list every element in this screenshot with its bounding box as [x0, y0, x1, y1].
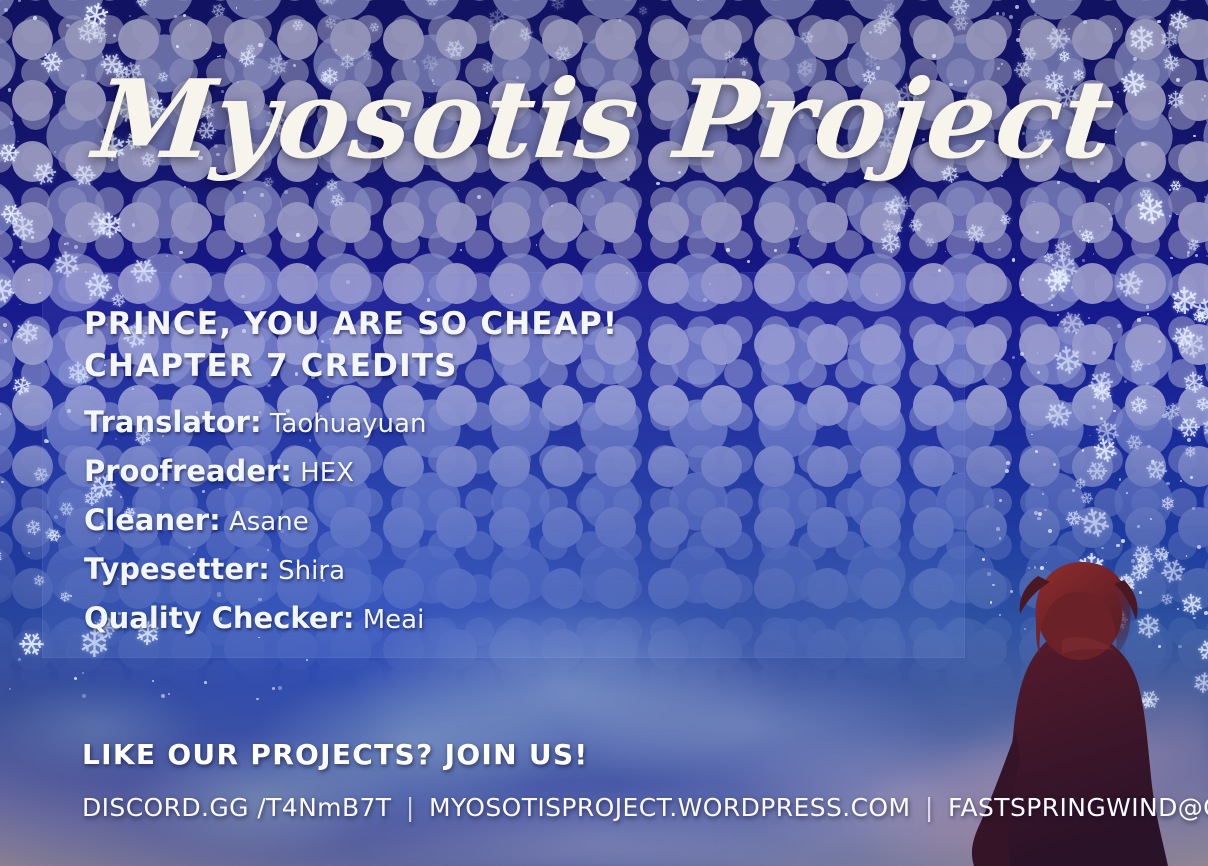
snow-dot [190, 24, 192, 26]
credit-role-name: Asane [221, 507, 309, 537]
snow-dot [1168, 417, 1171, 420]
snow-dot [1190, 476, 1193, 479]
snowflake-icon: ❄ [1076, 550, 1107, 587]
snow-dot [3, 323, 7, 327]
snow-dot [206, 48, 208, 50]
snow-dot [1046, 562, 1048, 564]
snow-dot [1012, 356, 1015, 359]
snow-dot [1012, 258, 1015, 261]
snow-dot [1115, 28, 1117, 30]
snow-dot [1037, 352, 1039, 354]
snowflake-icon: ❄ [1074, 477, 1087, 492]
snow-dot [1147, 445, 1151, 449]
snow-dot [1067, 648, 1069, 650]
snow-dot [1106, 373, 1110, 377]
snow-dot [990, 601, 993, 604]
snowflake-icon: ❄ [23, 516, 44, 540]
website-link[interactable]: MYOSOTISPROJECT.WORDPRESS.COM [429, 793, 910, 822]
snow-dot [1053, 463, 1056, 466]
snowflake-icon: ❄ [1081, 364, 1119, 406]
snow-dot [797, 245, 799, 247]
snowflake-icon: ❄ [1038, 394, 1079, 438]
snow-dot [1066, 601, 1070, 605]
snowflake-icon: ❄ [878, 229, 904, 259]
snow-dot [1006, 461, 1010, 465]
snow-dot [1187, 254, 1190, 257]
snow-dot [1162, 414, 1166, 418]
snow-dot [1028, 567, 1031, 570]
snowflake-icon: ❄ [1203, 399, 1208, 450]
snow-dot [1021, 294, 1024, 297]
snow-dot [1093, 253, 1095, 255]
discord-link[interactable]: DISCORD.GG /T4NmB7T [82, 793, 391, 822]
snow-dot [1034, 511, 1038, 515]
snow-dot [4, 339, 7, 342]
snow-dot [1061, 416, 1063, 418]
snow-dot [1048, 297, 1052, 301]
snowflake-icon: ❄ [0, 197, 28, 232]
snowflake-icon: ❄ [243, 41, 258, 57]
snow-dot [1139, 591, 1142, 594]
snowflake-icon: ❄ [904, 215, 926, 238]
snow-dot [74, 245, 78, 249]
snowflake-icon: ❄ [637, 5, 648, 18]
snow-dot [256, 698, 259, 701]
snow-dot [129, 15, 132, 18]
snowflake-icon: ❄ [489, 22, 498, 33]
snow-dot [1153, 396, 1155, 398]
snowflake-icon: ❄ [1050, 340, 1087, 382]
snow-dot [1108, 203, 1110, 205]
snow-dot [204, 681, 207, 684]
snow-dot [0, 413, 1, 415]
snowflake-icon: ❄ [327, 192, 347, 214]
snowflake-icon: ❄ [1061, 506, 1086, 533]
snowflake-icon: ❄ [949, 13, 972, 38]
snowflake-icon: ❄ [1134, 685, 1165, 718]
snow-dot [536, 244, 538, 246]
snowflake-icon: ❄ [288, 17, 306, 36]
snowflake-icon: ❄ [879, 217, 898, 238]
snow-dot [1100, 417, 1103, 420]
title-container: Myosotis Project [0, 64, 1208, 177]
snow-dot [945, 251, 947, 253]
snow-dot [306, 659, 308, 661]
snow-dot [100, 227, 102, 229]
snow-dot [697, 0, 700, 1]
snow-dot [1057, 607, 1061, 611]
snowflake-icon: ❄ [1114, 572, 1137, 599]
snowflake-icon: ❄ [1171, 410, 1207, 448]
snowflake-icon: ❄ [1109, 606, 1128, 627]
snowflake-icon: ❄ [1193, 308, 1208, 328]
snowflake-icon: ❄ [1134, 610, 1164, 645]
snow-dot [243, 191, 246, 194]
snow-dot [1164, 554, 1168, 558]
snow-dot [1079, 230, 1081, 232]
snowflake-icon: ❄ [1040, 19, 1079, 60]
snowflake-icon: ❄ [1181, 368, 1208, 400]
snow-dot [102, 232, 106, 236]
snow-dot [1071, 286, 1074, 289]
snow-dot [1187, 438, 1191, 442]
snowflake-icon: ❄ [1075, 502, 1117, 548]
credit-line: Cleaner: Asane [84, 497, 924, 546]
snowflake-icon: ❄ [9, 372, 35, 401]
credit-role-name: HEX [292, 458, 354, 488]
snow-dot [1200, 346, 1202, 348]
snowflake-icon: ❄ [1102, 606, 1134, 640]
snow-dot [19, 246, 23, 250]
snow-dot [1089, 435, 1091, 437]
snowflake-icon: ❄ [883, 188, 918, 226]
snowflake-icon: ❄ [132, 0, 150, 12]
snowflake-icon: ❄ [1078, 228, 1097, 250]
snow-dot [1051, 294, 1055, 298]
snow-dot [747, 260, 750, 263]
footer-links: DISCORD.GG /T4NmB7T | MYOSOTISPROJECT.WO… [82, 793, 1142, 822]
snow-dot [619, 19, 622, 22]
snowflake-icon: ❄ [1122, 430, 1147, 457]
snow-dot [1038, 512, 1042, 516]
snow-dot [1119, 478, 1121, 480]
credits-role-list: Translator: TaohuayuanProofreader: HEXCl… [84, 399, 924, 644]
snowflake-icon: ❄ [1149, 543, 1173, 569]
snow-dot [1157, 20, 1161, 24]
snowflake-icon: ❄ [1127, 392, 1151, 419]
credits-text-block: PRINCE, YOU ARE SO CHEAP! CHAPTER 7 CRED… [84, 303, 924, 644]
snow-dot [19, 304, 21, 306]
snow-dot [1169, 189, 1171, 191]
snowflake-icon: ❄ [1159, 591, 1175, 609]
snow-dot [82, 694, 86, 698]
snow-dot [1150, 518, 1152, 520]
snow-dot [1176, 214, 1178, 216]
credit-role-name: Taohuayuan [262, 409, 427, 439]
snowflake-icon: ❄ [1199, 413, 1208, 444]
snow-dot [1147, 313, 1149, 315]
snow-dot [1170, 257, 1173, 260]
snow-dot [982, 558, 985, 561]
snow-dot [33, 16, 37, 20]
snowflake-icon: ❄ [422, 0, 441, 11]
snow-dot [1166, 482, 1170, 486]
snowflake-icon: ❄ [74, 18, 103, 51]
snow-dot [460, 249, 462, 251]
snow-dot [726, 248, 730, 252]
snow-dot [66, 24, 70, 28]
snowflake-icon: ❄ [1192, 633, 1208, 670]
snow-dot [1177, 608, 1179, 610]
credit-role-label: Proofreader: [84, 454, 292, 488]
snow-dot [306, 265, 309, 268]
snow-dot [152, 680, 154, 682]
credit-role-label: Typesetter: [84, 552, 270, 586]
snowflake-icon: ❄ [1126, 23, 1157, 60]
snowflake-icon: ❄ [1051, 238, 1074, 264]
snow-dot [176, 45, 180, 49]
snow-dot [1018, 29, 1020, 31]
snow-dot [1124, 380, 1127, 383]
snow-dot [184, 186, 186, 188]
snow-dot [113, 34, 116, 37]
footer-call-to-action: LIKE OUR PROJECTS? JOIN US! [82, 738, 1142, 771]
credits-heading-title: PRINCE, YOU ARE SO CHEAP! [84, 303, 924, 345]
snowflake-icon: ❄ [0, 270, 22, 313]
snowflake-icon: ❄ [366, 20, 381, 37]
snowflake-icon: ❄ [874, 4, 901, 34]
snowflake-icon: ❄ [1112, 570, 1142, 601]
snow-dot [174, 15, 177, 18]
snow-dot [18, 658, 21, 661]
snow-dot [1044, 509, 1047, 512]
snow-dot [1193, 617, 1196, 620]
snow-dot [1137, 318, 1141, 322]
snowflake-icon: ❄ [1166, 319, 1201, 357]
snow-dot [477, 195, 481, 199]
snowflake-icon: ❄ [871, 18, 890, 39]
snowflake-icon: ❄ [316, 0, 331, 7]
snow-dot [1010, 590, 1013, 593]
snow-dot [1187, 251, 1190, 254]
snow-dot [987, 572, 991, 576]
snowflake-icon: ❄ [1139, 695, 1156, 713]
snow-dot [82, 672, 84, 674]
snow-dot [1126, 492, 1128, 494]
snow-dot [869, 31, 873, 35]
snowflake-icon: ❄ [1184, 445, 1197, 461]
snow-dot [999, 499, 1002, 502]
snow-dot [64, 243, 66, 245]
snowflake-icon: ❄ [1170, 298, 1189, 319]
snowflake-icon: ❄ [1135, 185, 1156, 207]
snow-dot [795, 227, 798, 230]
snow-dot [260, 193, 264, 197]
snowflake-icon: ❄ [1042, 251, 1057, 268]
snow-dot [1015, 5, 1019, 9]
snowflake-icon: ❄ [1054, 304, 1091, 344]
snowflake-icon: ❄ [884, 1, 897, 16]
snow-dot [1, 481, 4, 484]
footer-separator-2: | [919, 793, 940, 822]
snow-dot [1180, 480, 1182, 482]
credit-line: Translator: Taohuayuan [84, 399, 924, 448]
snowflake-icon: ❄ [1109, 263, 1149, 307]
snow-dot [1016, 38, 1020, 42]
snowflake-icon: ❄ [1190, 294, 1208, 330]
footer-block: LIKE OUR PROJECTS? JOIN US! DISCORD.GG /… [82, 738, 1142, 822]
snow-dot [1101, 225, 1103, 227]
snow-dot [1151, 460, 1154, 463]
snowflake-icon: ❄ [78, 0, 114, 37]
snowflake-icon: ❄ [1166, 6, 1193, 37]
credit-line: Proofreader: HEX [84, 448, 924, 497]
snowflake-icon: ❄ [1169, 282, 1201, 320]
credit-role-name: Meai [354, 605, 424, 635]
snow-dot [183, 14, 186, 17]
snow-dot [66, 242, 69, 245]
snow-dot [1031, 434, 1033, 436]
snow-dot [1158, 340, 1161, 343]
snowflake-icon: ❄ [890, 221, 905, 237]
snowflake-icon: ❄ [1140, 453, 1173, 488]
snow-dot [1125, 227, 1127, 229]
snow-dot [9, 688, 11, 690]
snowflake-icon: ❄ [1080, 454, 1114, 490]
snow-dot [179, 251, 182, 254]
snow-dot [1131, 559, 1135, 563]
snowflake-icon: ❄ [1174, 326, 1208, 366]
snow-dot [1116, 544, 1119, 547]
snow-dot [28, 279, 30, 281]
snowflake-icon: ❄ [88, 22, 112, 48]
snow-dot [335, 49, 337, 51]
snowflake-icon: ❄ [487, 6, 508, 31]
snow-dot [1072, 489, 1075, 492]
snowflake-icon: ❄ [1090, 379, 1115, 408]
snow-dot [1186, 555, 1188, 557]
snowflake-icon: ❄ [1037, 260, 1080, 305]
snowflake-icon: ❄ [996, 211, 1013, 229]
snow-dot [1117, 324, 1121, 328]
snowflake-icon: ❄ [1194, 394, 1208, 415]
snow-dot [168, 693, 170, 695]
snowflake-icon: ❄ [1167, 177, 1185, 196]
snow-dot [1195, 254, 1198, 257]
snow-dot [1181, 23, 1183, 25]
snow-dot [74, 677, 77, 680]
snowflake-icon: ❄ [80, 201, 125, 248]
snow-dot [1051, 304, 1053, 306]
snowflake-icon: ❄ [1178, 589, 1206, 621]
snow-dot [1121, 539, 1125, 543]
snow-dot [1048, 529, 1052, 533]
snow-dot [822, 183, 826, 187]
snow-dot [1158, 645, 1161, 648]
snow-dot [982, 230, 984, 232]
snow-dot [999, 614, 1001, 616]
snowflake-icon: ❄ [1088, 433, 1121, 470]
snow-dot [18, 0, 21, 2]
snowflake-icon: ❄ [1160, 496, 1176, 514]
snowflake-icon: ❄ [961, 219, 990, 251]
snow-dot [1095, 281, 1097, 283]
snowflake-icon: ❄ [320, 0, 340, 11]
credit-line: Quality Checker: Meai [84, 595, 924, 644]
snow-dot [79, 235, 82, 238]
snow-dot [1040, 566, 1044, 570]
snowflake-icon: ❄ [880, 196, 903, 221]
snow-dot [591, 195, 594, 198]
snowflake-icon: ❄ [208, 2, 228, 24]
footer-separator-1: | [400, 793, 421, 822]
snow-dot [998, 248, 1001, 251]
snow-dot [1034, 13, 1037, 16]
snowflake-icon: ❄ [1091, 414, 1125, 451]
snow-dot [258, 43, 263, 48]
snow-dot [1133, 57, 1137, 61]
credit-line: Typesetter: Shira [84, 546, 924, 595]
snow-dot [241, 250, 243, 252]
snow-dot [254, 214, 257, 217]
snowflake-icon: ❄ [796, 28, 816, 50]
snow-dot [1067, 640, 1069, 642]
snow-dot [272, 687, 275, 690]
snow-dot [39, 292, 41, 294]
snow-dot [1197, 545, 1201, 549]
snow-dot [4, 8, 8, 12]
snowflake-icon: ❄ [1127, 356, 1147, 378]
snow-dot [1002, 12, 1006, 16]
snow-dot [1009, 15, 1013, 19]
credits-heading-chapter: CHAPTER 7 CREDITS [84, 345, 924, 387]
snow-dot [774, 249, 778, 253]
snow-dot [1022, 278, 1025, 281]
email-link[interactable]: FASTSPRINGWIND@GMAIL.COM [948, 793, 1208, 822]
snow-dot [12, 260, 15, 263]
snow-dot [1148, 363, 1151, 366]
snow-dot [1192, 507, 1195, 510]
snow-dot [1020, 352, 1024, 356]
snow-dot [986, 505, 989, 508]
snowflake-icon: ❄ [1133, 551, 1156, 578]
snow-dot [1109, 217, 1113, 221]
snow-dot [1083, 20, 1087, 24]
snow-dot [1005, 469, 1009, 473]
snow-dot [1140, 192, 1142, 194]
snowflake-icon: ❄ [922, 235, 938, 252]
credit-role-label: Quality Checker: [84, 601, 354, 635]
snow-dot [1034, 566, 1037, 569]
snow-dot [1113, 410, 1116, 413]
snow-dot [1178, 645, 1182, 649]
snow-dot [1068, 28, 1070, 30]
snow-dot [1035, 450, 1038, 453]
credit-role-label: Translator: [84, 405, 262, 439]
snow-dot [1101, 547, 1103, 549]
snow-dot [999, 537, 1002, 540]
snow-dot [1102, 472, 1104, 474]
snow-dot [1057, 314, 1059, 316]
snow-dot [132, 223, 135, 226]
snow-dot [996, 12, 999, 15]
snowflake-icon: ❄ [1155, 553, 1191, 593]
snow-dot [996, 527, 1000, 531]
credits-page: ❄❄❄❄❄❄❄❄❄❄❄❄❄❄❄❄❄❄❄❄❄❄❄❄❄❄❄❄❄❄❄❄❄❄❄❄❄❄❄❄… [0, 0, 1208, 866]
snowflake-icon: ❄ [1158, 27, 1179, 52]
snow-dot [1204, 196, 1206, 198]
snowflake-icon: ❄ [1097, 588, 1123, 618]
snowflake-icon: ❄ [13, 317, 42, 351]
snow-dot [236, 7, 238, 9]
snow-dot [1003, 378, 1005, 380]
snow-dot [1169, 215, 1171, 217]
snowflake-icon: ❄ [1133, 191, 1170, 234]
snow-dot [458, 190, 460, 192]
snowflake-icon: ❄ [1127, 540, 1158, 573]
snow-dot [31, 236, 34, 239]
snow-dot [551, 205, 553, 207]
snow-dot [1031, 0, 1035, 3]
snowflake-icon: ❄ [517, 24, 537, 46]
snowflake-icon: ❄ [323, 15, 339, 33]
snow-dot [1060, 609, 1064, 613]
snow-dot [1078, 648, 1080, 650]
snowflake-icon: ❄ [1190, 306, 1207, 325]
snowflake-icon: ❄ [7, 211, 39, 248]
snow-dot [1146, 305, 1149, 308]
snow-dot [1042, 493, 1044, 495]
